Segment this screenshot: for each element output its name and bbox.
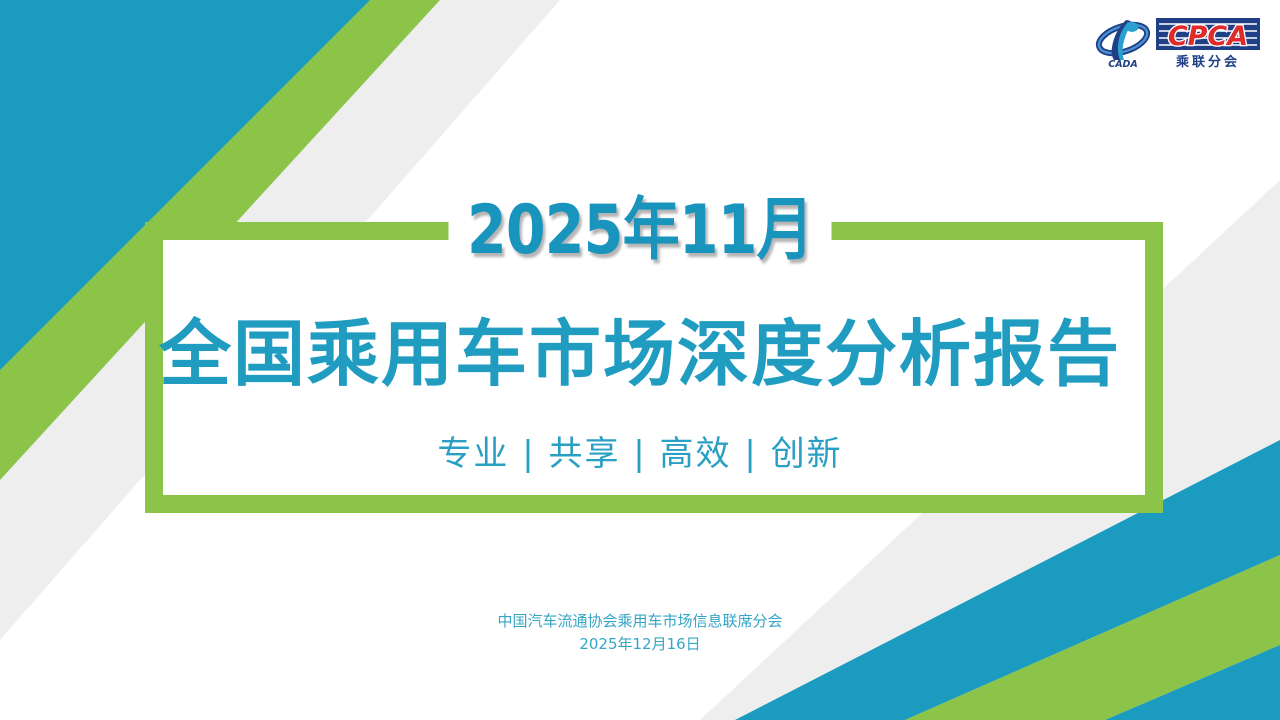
slide-content: 2025年11月 全国乘用车市场深度分析报告 专业 | 共享 | 高效 | 创新… — [0, 0, 1280, 720]
date-title: 2025年11月 — [449, 188, 832, 274]
slide-subtitle: 专业 | 共享 | 高效 | 创新 — [0, 430, 1280, 478]
cpca-wordmark-block: CPCA — [1156, 18, 1260, 52]
footer-date: 2025年12月16日 — [0, 633, 1280, 656]
footer-organization: 中国汽车流通协会乘用车市场信息联席分会 — [0, 610, 1280, 633]
page-title: 全国乘用车市场深度分析报告 — [0, 310, 1280, 398]
cada-wordmark: CADA — [1108, 59, 1138, 70]
slide-canvas: 2025年11月 全国乘用车市场深度分析报告 专业 | 共享 | 高效 | 创新… — [0, 0, 1280, 720]
cada-emblem-icon: CADA — [1095, 19, 1150, 70]
cpca-wordmark: CPCA — [1168, 21, 1248, 52]
footer-block: 中国汽车流通协会乘用车市场信息联席分会 2025年12月16日 — [0, 610, 1280, 656]
cpca-subwordmark: 乘联分会 — [1175, 54, 1240, 70]
date-title-row: 2025年11月 — [0, 188, 1280, 274]
cpca-logo: CADA CPCA 乘联分会 — [1090, 14, 1262, 72]
